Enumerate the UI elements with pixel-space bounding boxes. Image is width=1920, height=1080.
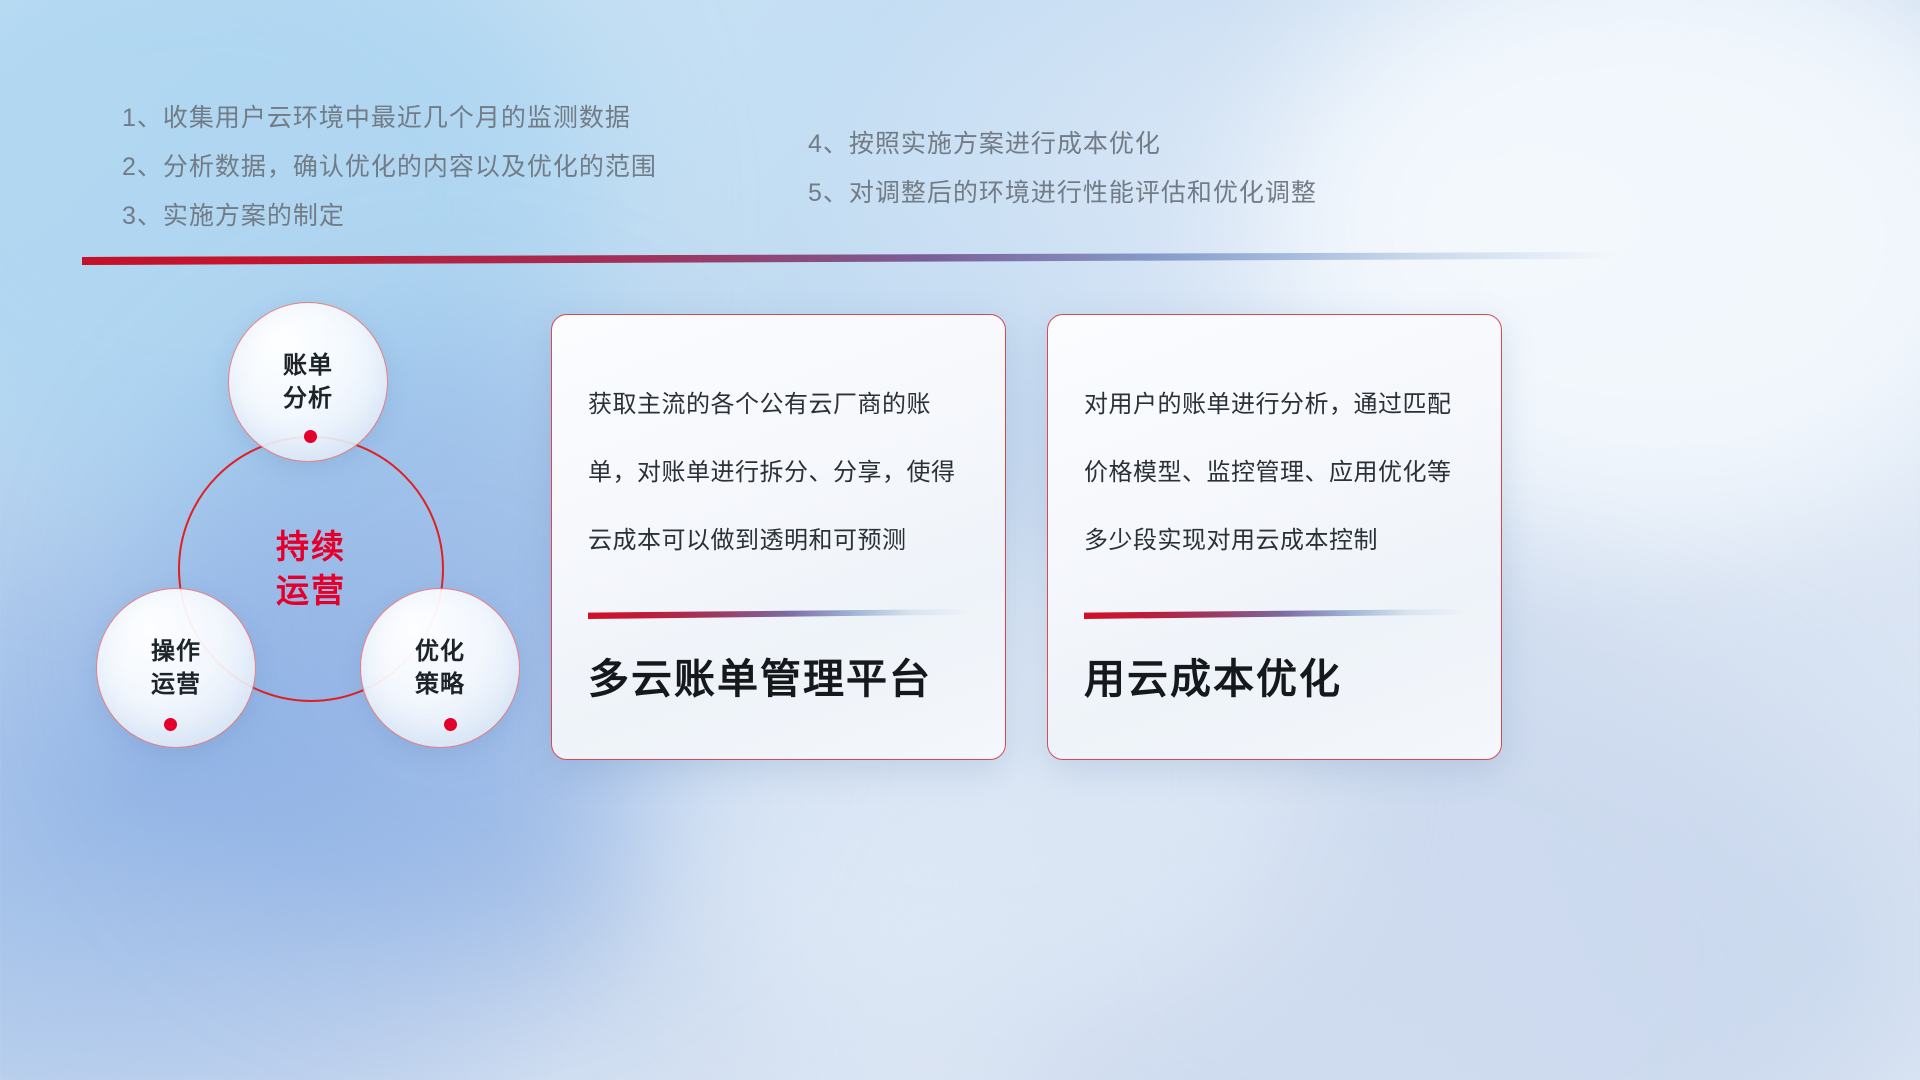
card-1-body: 获取主流的各个公有云厂商的账单，对账单进行拆分、分享，使得云成本可以做到透明和可… — [588, 371, 969, 575]
card-1-title: 多云账单管理平台 — [588, 619, 969, 759]
slide-stage: 1、收集用户云环境中最近几个月的监测数据 2、分析数据，确认优化的内容以及优化的… — [0, 0, 1920, 1080]
card-1-rule — [588, 609, 969, 619]
step-item-2: 2、分析数据，确认优化的内容以及优化的范围 — [122, 143, 657, 192]
venn-diagram: 持续运营 账单分析 操作运营 优化策略 — [82, 288, 552, 768]
info-card-multicloud-billing[interactable]: 获取主流的各个公有云厂商的账单，对账单进行拆分、分享，使得云成本可以做到透明和可… — [551, 314, 1006, 760]
step-item-3: 3、实施方案的制定 — [122, 192, 657, 241]
venn-node-dot-right — [444, 718, 457, 731]
card-2-rule — [1084, 609, 1465, 619]
step-item-5: 5、对调整后的环境进行性能评估和优化调整 — [808, 169, 1317, 218]
center-label-line2: 运营 — [276, 572, 346, 609]
card-2-body: 对用户的账单进行分析，通过匹配价格模型、监控管理、应用优化等多少段实现对用云成本… — [1084, 371, 1465, 575]
bubble-top-line1: 账单 — [283, 352, 333, 379]
step-item-1: 1、收集用户云环境中最近几个月的监测数据 — [122, 94, 657, 143]
bubble-top-line2: 分析 — [283, 385, 333, 412]
bubble-left-line1: 操作 — [151, 638, 201, 665]
center-label-line1: 持续 — [276, 528, 346, 565]
bubble-right-line2: 策略 — [415, 671, 465, 698]
info-card-cloud-cost-optimization[interactable]: 对用户的账单进行分析，通过匹配价格模型、监控管理、应用优化等多少段实现对用云成本… — [1047, 314, 1502, 760]
divider-gradient-bar — [82, 252, 1618, 265]
bubble-right-line1: 优化 — [415, 638, 465, 665]
venn-bubble-optimization-strategy[interactable]: 优化策略 — [360, 588, 520, 748]
steps-right-column: 4、按照实施方案进行成本优化 5、对调整后的环境进行性能评估和优化调整 — [808, 120, 1317, 218]
steps-left-column: 1、收集用户云环境中最近几个月的监测数据 2、分析数据，确认优化的内容以及优化的… — [122, 94, 657, 241]
venn-node-dot-top — [304, 430, 317, 443]
venn-node-dot-left — [164, 718, 177, 731]
center-label-text: 持续运营 — [276, 525, 346, 613]
card-2-rule-gradient — [1084, 609, 1465, 619]
bubble-left-line2: 运营 — [151, 671, 201, 698]
card-1-rule-gradient — [588, 609, 969, 619]
step-item-4: 4、按照实施方案进行成本优化 — [808, 120, 1317, 169]
section-divider — [82, 252, 1618, 265]
card-2-title: 用云成本优化 — [1084, 619, 1465, 759]
